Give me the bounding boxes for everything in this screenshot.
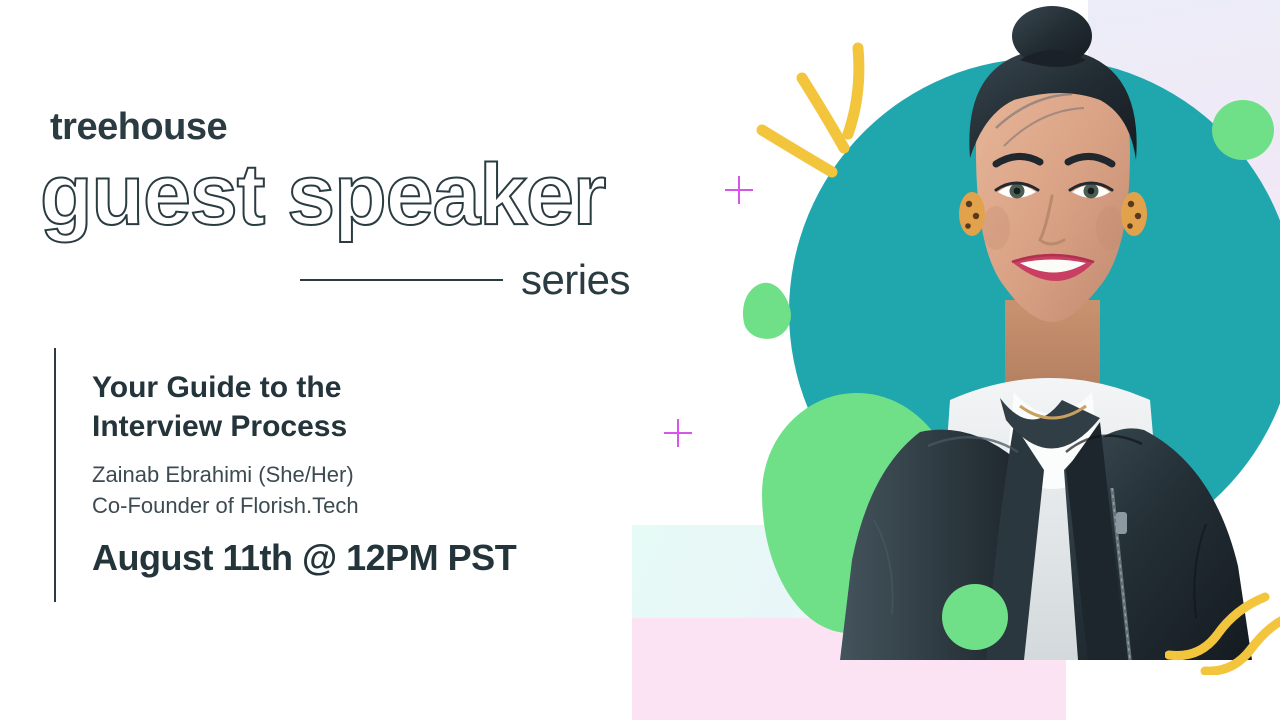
talk-title: Your Guide to the Interview Process	[92, 368, 632, 446]
event-details: Your Guide to the Interview Process Zain…	[92, 368, 632, 577]
vertical-accent-rule	[54, 348, 56, 602]
treehouse-wordmark: treehouse	[50, 108, 227, 146]
speaker-portrait	[800, 0, 1280, 660]
green-blob-small	[737, 279, 796, 344]
series-row: series	[300, 250, 630, 310]
content-column: treehouse guest speaker series Your Guid…	[0, 0, 660, 720]
green-circle-bottom	[942, 584, 1008, 650]
series-divider-rule	[300, 279, 503, 281]
plus-mark-upper-icon	[725, 176, 753, 204]
speaker-name: Zainab Ebrahimi (She/Her)	[92, 460, 632, 491]
event-datetime: August 11th @ 12PM PST	[92, 538, 632, 578]
guest-speaker-headline: guest speaker	[40, 150, 605, 240]
speaker-role: Co-Founder of Florish.Tech	[92, 491, 632, 522]
series-label: series	[521, 259, 630, 301]
plus-mark-lower-icon	[664, 419, 692, 447]
promo-slide: treehouse guest speaker series Your Guid…	[0, 0, 1280, 720]
